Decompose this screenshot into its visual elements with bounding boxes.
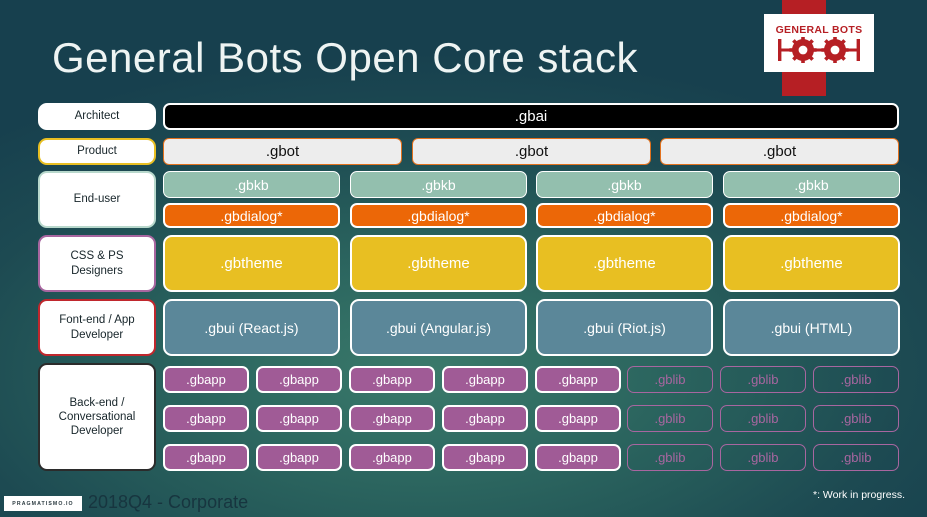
gbdialog-box-1[interactable]: .gbdialog* xyxy=(163,203,340,228)
footnote-work-in-progress: *: Work in progress. xyxy=(813,489,905,501)
gbkb-box-3[interactable]: .gbkb xyxy=(536,171,713,198)
gbui-box-4[interactable]: .gbui (HTML) xyxy=(723,299,900,356)
gblib-box-r1-c6[interactable]: .gblib xyxy=(627,366,713,393)
footer-caption: 2018Q4 - Corporate xyxy=(88,492,248,513)
slide-canvas: General Bots Open Core stack GENERAL BOT… xyxy=(0,0,927,517)
gbui-box-1[interactable]: .gbui (React.js) xyxy=(163,299,340,356)
gbapp-box-r3-c3[interactable]: .gbapp xyxy=(349,444,435,471)
gbapp-box-r2-c4[interactable]: .gbapp xyxy=(442,405,528,432)
gbapp-box-r2-c2[interactable]: .gbapp xyxy=(256,405,342,432)
gbapp-box-r2-c3[interactable]: .gbapp xyxy=(349,405,435,432)
logo-wordmark: GENERAL BOTS xyxy=(776,24,863,36)
gbapp-box-r3-c5[interactable]: .gbapp xyxy=(535,444,621,471)
page-title: General Bots Open Core stack xyxy=(52,34,638,82)
gbapp-box-r2-c5[interactable]: .gbapp xyxy=(535,405,621,432)
gbapp-box-r3-c4[interactable]: .gbapp xyxy=(442,444,528,471)
gblib-box-r2-c8[interactable]: .gblib xyxy=(813,405,899,432)
role-label-architect: Architect xyxy=(38,103,156,130)
gblib-box-r1-c8[interactable]: .gblib xyxy=(813,366,899,393)
gbapp-box-r1-c4[interactable]: .gbapp xyxy=(442,366,528,393)
role-label-font-end-app-developer: Font-end / AppDeveloper xyxy=(38,299,156,356)
gbot-box-2[interactable]: .gbot xyxy=(412,138,651,165)
gbot-box-1[interactable]: .gbot xyxy=(163,138,402,165)
gblib-box-r1-c7[interactable]: .gblib xyxy=(720,366,806,393)
role-label-end-user: End-user xyxy=(38,171,156,228)
gbapp-box-r1-c5[interactable]: .gbapp xyxy=(535,366,621,393)
gbai-box[interactable]: .gbai xyxy=(163,103,899,130)
gbapp-box-r1-c3[interactable]: .gbapp xyxy=(349,366,435,393)
gblib-box-r3-c7[interactable]: .gblib xyxy=(720,444,806,471)
gbapp-box-r3-c1[interactable]: .gbapp xyxy=(163,444,249,471)
gbapp-box-r2-c1[interactable]: .gbapp xyxy=(163,405,249,432)
gbdialog-box-2[interactable]: .gbdialog* xyxy=(350,203,527,228)
gbtheme-box-2[interactable]: .gbtheme xyxy=(350,235,527,292)
gbtheme-box-3[interactable]: .gbtheme xyxy=(536,235,713,292)
pragmatismo-logo: PRAGMATISMO.IO xyxy=(4,496,82,511)
gbui-box-3[interactable]: .gbui (Riot.js) xyxy=(536,299,713,356)
gears-logo-icon xyxy=(776,37,862,63)
gbkb-box-1[interactable]: .gbkb xyxy=(163,171,340,198)
gblib-box-r2-c6[interactable]: .gblib xyxy=(627,405,713,432)
gbapp-box-r1-c1[interactable]: .gbapp xyxy=(163,366,249,393)
role-label-css-ps-designers: CSS & PSDesigners xyxy=(38,235,156,292)
gblib-box-r2-c7[interactable]: .gblib xyxy=(720,405,806,432)
gbui-box-2[interactable]: .gbui (Angular.js) xyxy=(350,299,527,356)
gbtheme-box-1[interactable]: .gbtheme xyxy=(163,235,340,292)
gblib-box-r3-c8[interactable]: .gblib xyxy=(813,444,899,471)
gbot-box-3[interactable]: .gbot xyxy=(660,138,899,165)
gbdialog-box-4[interactable]: .gbdialog* xyxy=(723,203,900,228)
gbkb-box-4[interactable]: .gbkb xyxy=(723,171,900,198)
gbapp-box-r3-c2[interactable]: .gbapp xyxy=(256,444,342,471)
gbkb-box-2[interactable]: .gbkb xyxy=(350,171,527,198)
pragmatismo-wordmark: PRAGMATISMO.IO xyxy=(12,501,73,507)
gbtheme-box-4[interactable]: .gbtheme xyxy=(723,235,900,292)
role-label-product: Product xyxy=(38,138,156,165)
gbdialog-box-3[interactable]: .gbdialog* xyxy=(536,203,713,228)
general-bots-logo: GENERAL BOTS xyxy=(764,14,874,72)
gblib-box-r3-c6[interactable]: .gblib xyxy=(627,444,713,471)
role-label-back-end-conversational-developer: Back-end /ConversationalDeveloper xyxy=(38,363,156,471)
gbapp-box-r1-c2[interactable]: .gbapp xyxy=(256,366,342,393)
